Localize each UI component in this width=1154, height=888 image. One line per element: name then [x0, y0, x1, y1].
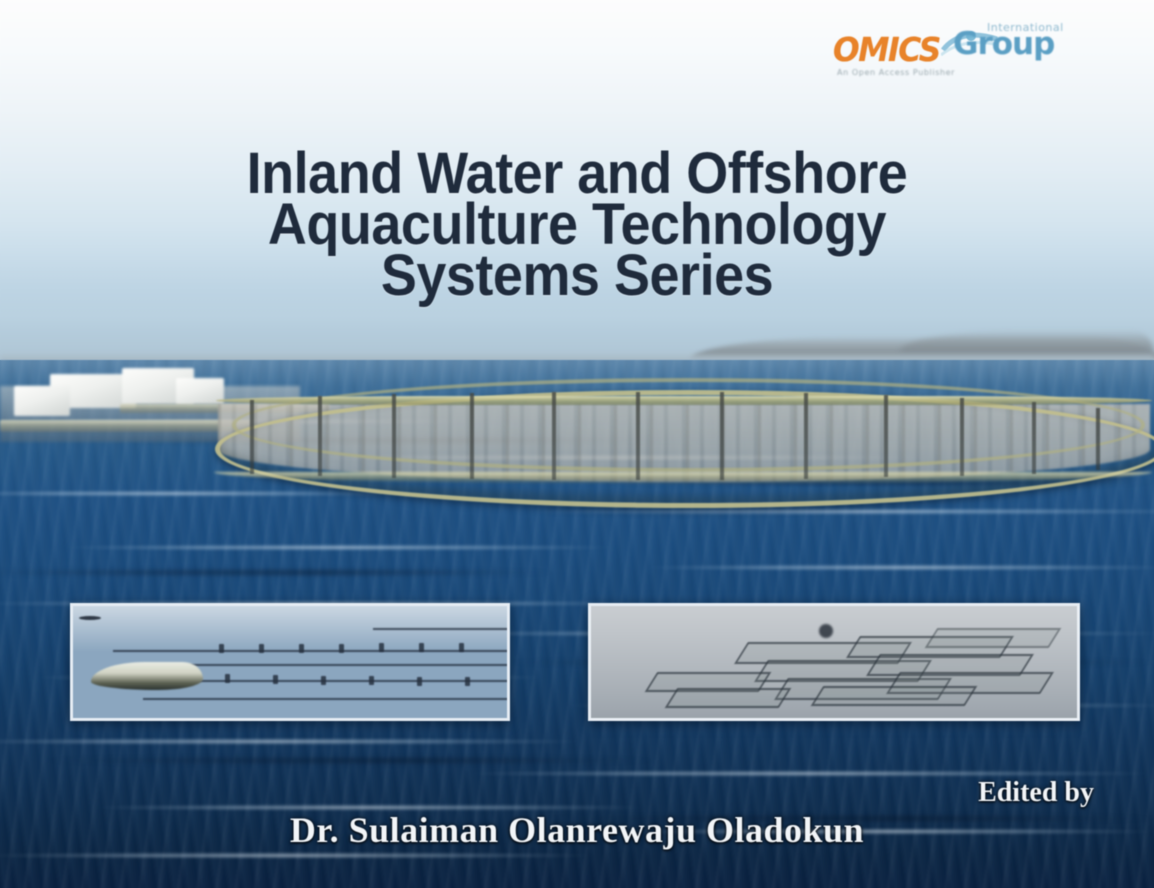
- edited-by-label: Edited by: [0, 778, 1154, 808]
- publisher-tagline: An Open Access Publisher: [837, 68, 955, 77]
- publisher-logo[interactable]: OMICS International Group An Open Access…: [833, 22, 1083, 84]
- book-cover: Inland Water and Offshore Aquaculture Te…: [0, 0, 1154, 888]
- inset-longline-raft-photo: [70, 603, 510, 721]
- cage-inner-ring: [232, 378, 1145, 472]
- omics-wordmark: OMICS: [833, 30, 940, 69]
- circular-fish-cage: [0, 352, 1154, 512]
- cage-top-railing: [216, 396, 1152, 405]
- title-line-3: Systems Series: [40, 250, 1113, 301]
- page-title: Inland Water and Offshore Aquaculture Te…: [40, 148, 1113, 301]
- service-boat: [91, 662, 203, 690]
- pen-hut: [819, 624, 833, 638]
- credits-block: Edited by Dr. Sulaiman Olanrewaju Oladok…: [0, 778, 1154, 850]
- inset-rectangular-pen-grid-photo: [588, 603, 1080, 721]
- editor-name: Dr. Sulaiman Olanrewaju Oladokun: [0, 810, 1154, 850]
- group-wordmark: Group: [953, 26, 1054, 62]
